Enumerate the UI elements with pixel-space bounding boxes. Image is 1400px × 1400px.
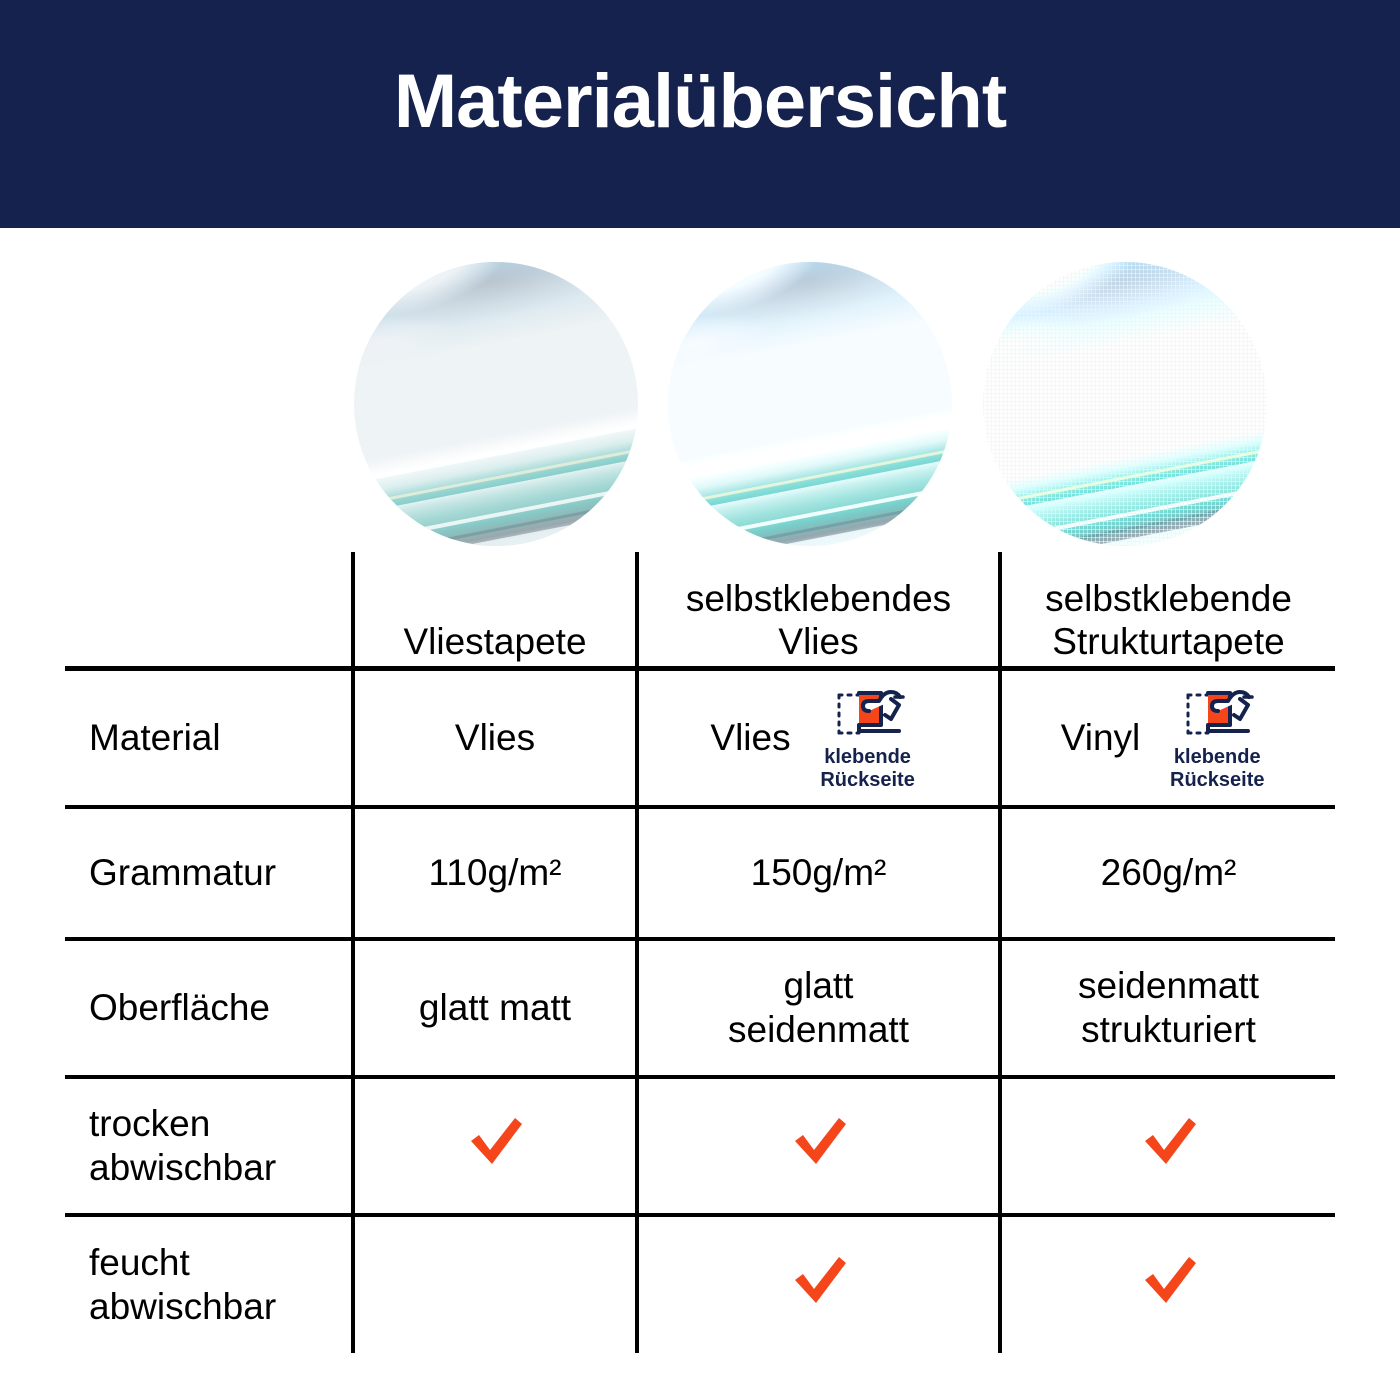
cell-feucht-selbstklebendes-vlies: [637, 1215, 1000, 1353]
cell-value: 260g/m²: [1002, 851, 1335, 895]
sample-image-selbstklebendes-vlies: [668, 262, 952, 546]
column-header-selbstklebendes-vlies: selbstklebendes Vlies: [637, 552, 1000, 669]
column-header-label: Vliestapete: [355, 620, 635, 664]
table-row: Material Vlies Vlies: [65, 669, 1335, 808]
table-row: feucht abwischbar: [65, 1215, 1335, 1353]
no-check-placeholder: [462, 1252, 528, 1308]
cell-feucht-selbstklebende-strukturtapete: [1000, 1215, 1335, 1353]
row-label-feucht-abwischbar: feucht abwischbar: [65, 1215, 353, 1353]
cell-oberflaeche-vliestapete: glatt matt: [353, 939, 637, 1077]
cell-value: 110g/m²: [355, 851, 635, 895]
peel-off-adhesive-backing-icon: [829, 685, 907, 743]
cell-value: Vlies: [455, 716, 535, 760]
row-label-trocken-abwischbar: trocken abwischbar: [65, 1077, 353, 1215]
klebende-rueckseite-badge: klebende Rückseite: [1158, 685, 1276, 791]
table-row: Grammatur 110g/m² 150g/m² 260g/m²: [65, 807, 1335, 939]
row-label-oberflaeche: Oberfläche: [65, 939, 353, 1077]
cell-value: seidenmatt strukturiert: [1002, 964, 1335, 1051]
badge-label: klebende Rückseite: [820, 746, 915, 791]
check-icon: [462, 1113, 528, 1169]
table-row: trocken abwischbar: [65, 1077, 1335, 1215]
cell-oberflaeche-selbstklebende-strukturtapete: seidenmatt strukturiert: [1000, 939, 1335, 1077]
cell-grammatur-selbstklebendes-vlies: 150g/m²: [637, 807, 1000, 939]
table-row: Oberfläche glatt matt glatt seidenmatt s…: [65, 939, 1335, 1077]
cell-grammatur-selbstklebende-strukturtapete: 260g/m²: [1000, 807, 1335, 939]
badge-label: klebende Rückseite: [1170, 746, 1265, 791]
cell-grammatur-vliestapete: 110g/m²: [353, 807, 637, 939]
cell-value: 150g/m²: [639, 851, 998, 895]
klebende-rueckseite-badge: klebende Rückseite: [809, 685, 927, 791]
column-header-label: selbstklebendes Vlies: [639, 577, 998, 664]
row-label: trocken abwischbar: [89, 1102, 351, 1189]
row-label: Oberfläche: [89, 986, 351, 1030]
beach-photo: [983, 262, 1267, 546]
cell-trocken-selbstklebende-strukturtapete: [1000, 1077, 1335, 1215]
cell-value: glatt seidenmatt: [639, 964, 998, 1051]
row-label: Grammatur: [89, 851, 351, 895]
check-icon: [786, 1252, 852, 1308]
cell-oberflaeche-selbstklebendes-vlies: glatt seidenmatt: [637, 939, 1000, 1077]
row-label: Material: [89, 716, 351, 760]
check-icon: [1136, 1252, 1202, 1308]
cell-material-vliestapete: Vlies: [353, 669, 637, 808]
cell-trocken-vliestapete: [353, 1077, 637, 1215]
cell-material-selbstklebendes-vlies: Vlies: [637, 669, 1000, 808]
header-band: Materialübersicht: [0, 0, 1400, 228]
check-icon: [1136, 1113, 1202, 1169]
beach-photo: [354, 262, 638, 546]
sample-image-vliestapete: [354, 262, 638, 546]
sample-image-selbstklebende-strukturtapete: [983, 262, 1267, 546]
column-header-selbstklebende-strukturtapete: selbstklebende Strukturtapete: [1000, 552, 1335, 669]
check-icon: [786, 1113, 852, 1169]
peel-off-adhesive-backing-icon: [1178, 685, 1256, 743]
cell-value: Vinyl: [1061, 716, 1141, 760]
material-comparison-table: Vliestapete selbstklebendes Vlies selbst…: [65, 552, 1335, 1353]
cell-value: Vlies: [710, 716, 790, 760]
cell-value: glatt matt: [355, 986, 635, 1030]
table-corner-cell: [65, 552, 353, 669]
row-label-material: Material: [65, 669, 353, 808]
cell-material-selbstklebende-strukturtapete: Vinyl: [1000, 669, 1335, 808]
cell-feucht-vliestapete: [353, 1215, 637, 1353]
cell-trocken-selbstklebendes-vlies: [637, 1077, 1000, 1215]
row-label: feucht abwischbar: [89, 1241, 351, 1328]
material-sample-row: [0, 262, 1400, 552]
beach-photo: [668, 262, 952, 546]
page-title: Materialübersicht: [0, 62, 1400, 142]
table-header-row: Vliestapete selbstklebendes Vlies selbst…: [65, 552, 1335, 669]
column-header-vliestapete: Vliestapete: [353, 552, 637, 669]
column-header-label: selbstklebende Strukturtapete: [1002, 577, 1335, 664]
row-label-grammatur: Grammatur: [65, 807, 353, 939]
